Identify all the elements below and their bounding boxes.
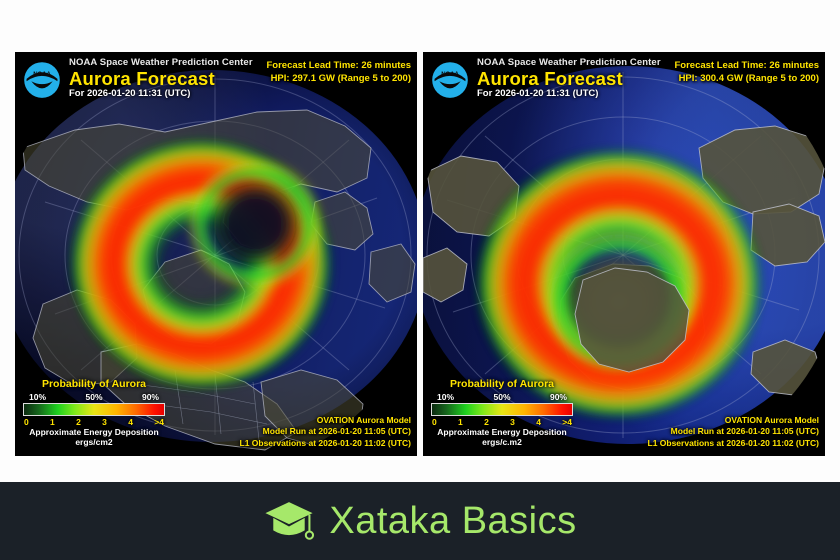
legend-caption: Approximate Energy Deposition ergs/cm2 xyxy=(23,428,165,448)
legend-energy-ticks: 0 1 2 3 4 >4 xyxy=(23,416,165,427)
panel-northern-hemisphere[interactable]: NOAA NOAA Space Weather Prediction Cente… xyxy=(15,52,417,456)
legend-south: Probability of Aurora 10% 50% 90% 0 1 2 … xyxy=(431,378,573,448)
legend-tick-0: 0 xyxy=(432,417,437,427)
legend-tick-0: 0 xyxy=(24,417,29,427)
forecast-info-north: Forecast Lead Time: 26 minutes HPI: 297.… xyxy=(267,60,412,86)
legend-pct-90: 90% xyxy=(550,392,567,402)
header-organization: NOAA Space Weather Prediction Center xyxy=(477,58,661,68)
legend-caption-line2: ergs/c.m2 xyxy=(431,438,573,448)
header-subtitle: For 2026-01-20 11:31 (UTC) xyxy=(69,89,253,99)
forecast-info-south: Forecast Lead Time: 26 minutes HPI: 300.… xyxy=(675,60,820,86)
model-name: OVATION Aurora Model xyxy=(648,415,820,426)
legend-tick-3: 3 xyxy=(510,417,515,427)
legend-percent-labels: 10% 50% 90% xyxy=(431,392,573,403)
svg-text:NOAA: NOAA xyxy=(441,72,459,78)
legend-tick-1: 1 xyxy=(458,417,463,427)
hemispheric-power-index: HPI: 297.1 GW (Range 5 to 200) xyxy=(267,73,412,86)
legend-north: Probability of Aurora 10% 50% 90% 0 1 2 … xyxy=(23,378,165,448)
legend-tick-4: 4 xyxy=(128,417,133,427)
legend-title: Probability of Aurora xyxy=(431,378,573,390)
l1-observations-time: L1 Observations at 2026-01-20 11:02 (UTC… xyxy=(648,438,820,449)
header-title: Aurora Forecast xyxy=(477,69,661,88)
legend-pct-50: 50% xyxy=(85,392,102,402)
svg-text:NOAA: NOAA xyxy=(33,72,51,78)
legend-tick-2: 2 xyxy=(484,417,489,427)
legend-tick-1: 1 xyxy=(50,417,55,427)
noaa-logo: NOAA xyxy=(431,61,469,99)
model-credit-north: OVATION Aurora Model Model Run at 2026-0… xyxy=(240,415,412,449)
legend-caption-line2: ergs/cm2 xyxy=(23,438,165,448)
legend-colorbar xyxy=(431,403,573,416)
legend-pct-50: 50% xyxy=(493,392,510,402)
legend-percent-labels: 10% 50% 90% xyxy=(23,392,165,403)
model-run-time: Model Run at 2026-01-20 11:05 (UTC) xyxy=(648,426,820,437)
forecast-lead-time: Forecast Lead Time: 26 minutes xyxy=(267,60,412,73)
hemispheric-power-index: HPI: 300.4 GW (Range 5 to 200) xyxy=(675,73,820,86)
aurora-forecast-page: NOAA NOAA Space Weather Prediction Cente… xyxy=(0,0,840,560)
legend-colorbar xyxy=(23,403,165,416)
header-title: Aurora Forecast xyxy=(69,69,253,88)
legend-tick-4: 4 xyxy=(536,417,541,427)
legend-tick-gt4: >4 xyxy=(562,417,572,427)
model-credit-south: OVATION Aurora Model Model Run at 2026-0… xyxy=(648,415,820,449)
brand-bar: Xataka Basics xyxy=(0,482,840,560)
legend-caption: Approximate Energy Deposition ergs/c.m2 xyxy=(431,428,573,448)
legend-pct-10: 10% xyxy=(437,392,454,402)
model-name: OVATION Aurora Model xyxy=(240,415,412,426)
panel-southern-hemisphere[interactable]: NOAA NOAA Space Weather Prediction Cente… xyxy=(423,52,825,456)
model-run-time: Model Run at 2026-01-20 11:05 (UTC) xyxy=(240,426,412,437)
legend-pct-90: 90% xyxy=(142,392,159,402)
legend-tick-2: 2 xyxy=(76,417,81,427)
legend-title: Probability of Aurora xyxy=(23,378,165,390)
forecast-panels: NOAA NOAA Space Weather Prediction Cente… xyxy=(15,52,825,456)
panel-header-north: NOAA NOAA Space Weather Prediction Cente… xyxy=(23,58,253,99)
noaa-logo: NOAA xyxy=(23,61,61,99)
forecast-lead-time: Forecast Lead Time: 26 minutes xyxy=(675,60,820,73)
header-organization: NOAA Space Weather Prediction Center xyxy=(69,58,253,68)
graduation-cap-icon xyxy=(263,499,315,543)
legend-tick-gt4: >4 xyxy=(154,417,164,427)
l1-observations-time: L1 Observations at 2026-01-20 11:02 (UTC… xyxy=(240,438,412,449)
panel-header-south: NOAA NOAA Space Weather Prediction Cente… xyxy=(431,58,661,99)
legend-tick-3: 3 xyxy=(102,417,107,427)
legend-energy-ticks: 0 1 2 3 4 >4 xyxy=(431,416,573,427)
legend-pct-10: 10% xyxy=(29,392,46,402)
header-subtitle: For 2026-01-20 11:31 (UTC) xyxy=(477,89,661,99)
brand-title: Xataka Basics xyxy=(329,502,576,540)
